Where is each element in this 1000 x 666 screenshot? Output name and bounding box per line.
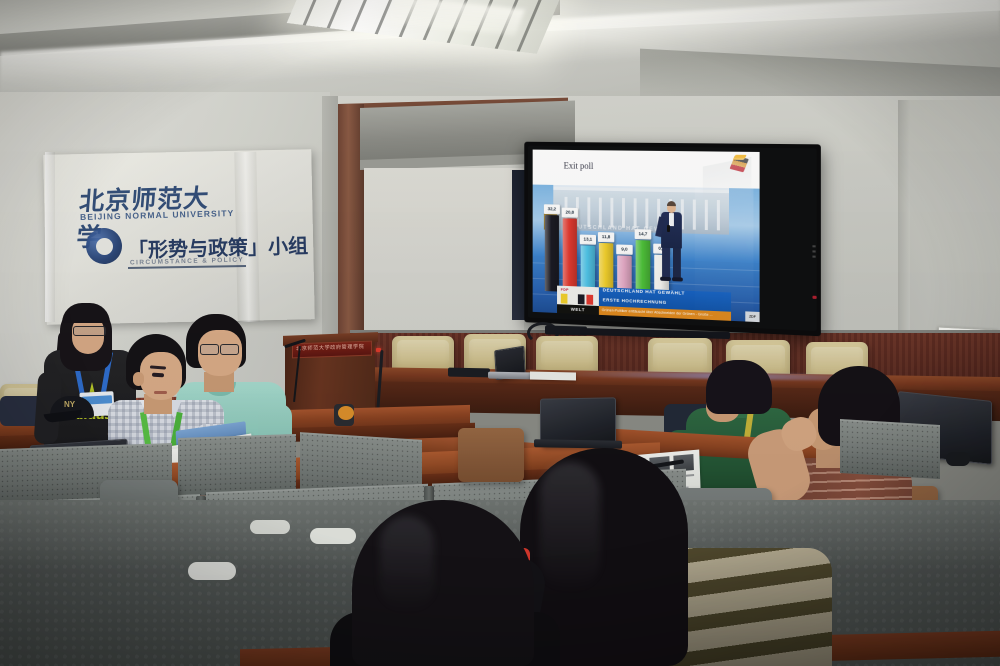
- presenter-leg: [662, 246, 670, 280]
- bar-label: 13,1: [580, 234, 596, 244]
- bar-gruene: [636, 240, 651, 295]
- laptop-base[interactable]: [488, 372, 532, 380]
- banner-logo-inner-icon: [96, 238, 113, 255]
- shoe: [250, 520, 290, 534]
- presenter-leg: [673, 246, 681, 280]
- bar-label: 14,7: [635, 229, 652, 239]
- eyeglasses-icon: [200, 344, 219, 355]
- presenter-microphone-icon: [667, 225, 670, 232]
- presenter-shirt: [669, 213, 674, 226]
- tv-power-indicator: [812, 296, 816, 299]
- computer-mouse[interactable]: [946, 452, 970, 466]
- presenter-shoe: [672, 277, 683, 281]
- cap-logo-icon: NY: [64, 400, 75, 409]
- presenter-hair: [667, 201, 676, 206]
- p6-hair-highlight: [540, 462, 600, 592]
- orange-object: [338, 406, 354, 420]
- bar-label: 32,2: [544, 204, 560, 214]
- wall-television: Exit poll DEUTSCHLAND HAT GEWÄHLT: [524, 142, 821, 337]
- shoe: [310, 528, 356, 544]
- p4-hair: [706, 360, 772, 414]
- eyeglasses-icon: [73, 326, 106, 336]
- desk-modesty-panel: [840, 419, 940, 479]
- bar-cdu-csu: [545, 215, 559, 292]
- bar-label: 20,8: [562, 208, 578, 218]
- tv-control-buttons[interactable]: [812, 245, 815, 260]
- bar-label: 9,0: [616, 244, 632, 254]
- paper-sheet: [530, 372, 576, 381]
- desk-modesty-panel: [178, 434, 296, 496]
- shoe: [188, 562, 236, 580]
- bar-fdp: [599, 243, 613, 294]
- wooden-chair[interactable]: [458, 428, 524, 482]
- broadcast-headline-1: DEUTSCHLAND HAT GEWÄHLT: [603, 288, 685, 296]
- photo-scene: 318 北京师范大学 BEIJING NORMAL UNIVERSITY 「形势…: [0, 0, 1000, 666]
- bar-label: 11,8: [598, 232, 614, 242]
- p7-hair-highlight: [380, 516, 434, 612]
- bar-spd: [563, 218, 577, 292]
- party-logo-text: FDP: [561, 288, 569, 292]
- swatch-red: [586, 295, 593, 305]
- p2-ear: [133, 372, 144, 386]
- screen-glare: [695, 157, 754, 322]
- p2-eye: [152, 373, 164, 378]
- channel-logo-text: WELT: [557, 304, 599, 315]
- eyeglasses-icon: [220, 344, 239, 355]
- tv-screen: Exit poll DEUTSCHLAND HAT GEWÄHLT: [533, 150, 760, 323]
- p2-mouth: [154, 391, 167, 394]
- swatch-yellow: [561, 294, 568, 304]
- swatch-black: [578, 294, 585, 304]
- lower-third-logo-box: FDP: [557, 286, 599, 306]
- keyboard[interactable]: [448, 368, 490, 378]
- banner-fold: [45, 152, 55, 322]
- presenter-shoe: [660, 277, 671, 281]
- slide-title: Exit poll: [564, 161, 594, 171]
- broadcast-headline-2: ERSTE HOCHRECHNUNG: [603, 297, 667, 305]
